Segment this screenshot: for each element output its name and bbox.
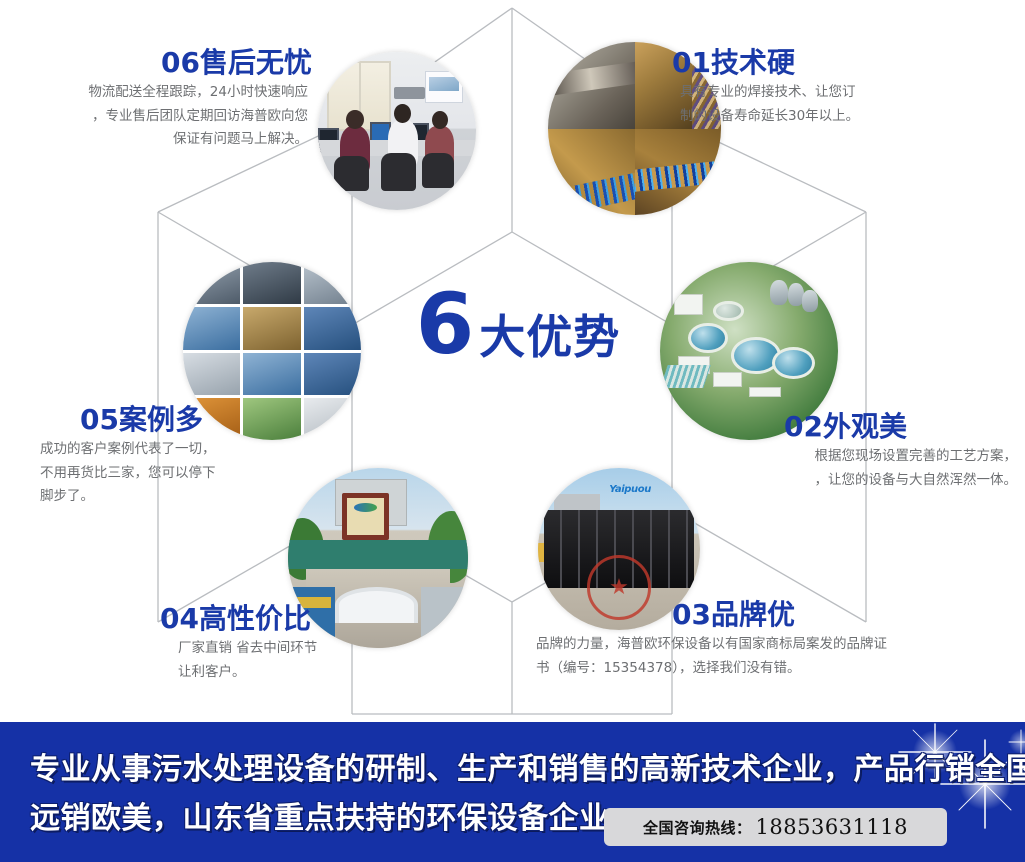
feature-06-line-2: ，专业售后团队定期回访海普欧向您: [0, 105, 308, 128]
feature-06-block: 06售后无忧 物流配送全程跟踪，24小时快速响应 ，专业售后团队定期回访海普欧向…: [0, 48, 318, 151]
feature-06-line-3: 保证有问题马上解决。: [0, 128, 308, 151]
feature-01-heading: 01技术硬: [672, 48, 1002, 77]
center-title: 6 大优势: [398, 282, 638, 377]
feature-02-line-1: 根据您现场设置完善的工艺方案，: [700, 445, 1017, 468]
center-label: 大优势: [479, 314, 620, 360]
feature-01-block: 01技术硬 具有专业的焊接技术、让您订 制的设备寿命延长30年以上。: [672, 48, 1002, 128]
feature-04-body: 厂家直销 省去中间环节 让利客户。: [130, 637, 430, 683]
feature-05-heading: 05案例多: [28, 405, 328, 434]
office-team-photo: [318, 52, 476, 210]
feature-03-line-2: 书（编号：15354378），选择我们没有错。: [536, 657, 1025, 680]
feature-02-line-2: ，让您的设备与大自然浑然一体。: [700, 469, 1017, 492]
feature-06-body: 物流配送全程跟踪，24小时快速响应 ，专业售后团队定期回访海普欧向您 保证有问题…: [0, 81, 318, 151]
banner-line-1: 专业从事污水处理设备的研制、生产和销售的高新技术企业，产品行销全国并: [30, 746, 890, 795]
feature-02-block: 02外观美 根据您现场设置完善的工艺方案， ，让您的设备与大自然浑然一体。: [700, 412, 1025, 492]
feature-04-line-2: 让利客户。: [178, 661, 430, 684]
feature-01-line-1: 具有专业的焊接技术、让您订: [680, 81, 1002, 104]
advantages-infographic: 6 大优势: [0, 0, 1025, 862]
feature-03-body: 品牌的力量，海普欧环保设备以有国家商标局案发的品牌证 书（编号：15354378…: [530, 633, 1025, 679]
feature-05-line-1: 成功的客户案例代表了一切，: [40, 438, 328, 461]
feature-06-line-1: 物流配送全程跟踪，24小时快速响应: [0, 81, 308, 104]
center-number: 6: [416, 282, 472, 366]
feature-06-heading: 06售后无忧: [0, 48, 318, 77]
feature-05-line-3: 脚步了。: [40, 485, 328, 508]
feature-03-line-1: 品牌的力量，海普欧环保设备以有国家商标局案发的品牌证: [536, 633, 1025, 656]
feature-03-heading: 03品牌优: [530, 600, 1025, 629]
hotline-label: 全国咨询热线：: [643, 817, 752, 838]
brand-logo: Yaipuou: [609, 484, 651, 495]
feature-05-line-2: 不用再货比三家，您可以停下: [40, 462, 328, 485]
feature-04-line-1: 厂家直销 省去中间环节: [178, 637, 430, 660]
hotline-number: 18853631118: [756, 815, 908, 839]
feature-02-body: 根据您现场设置完善的工艺方案， ，让您的设备与大自然浑然一体。: [700, 445, 1025, 491]
feature-04-heading: 04高性价比: [130, 604, 430, 633]
feature-01-line-2: 制的设备寿命延长30年以上。: [680, 105, 1002, 128]
feature-01-body: 具有专业的焊接技术、让您订 制的设备寿命延长30年以上。: [672, 81, 1002, 127]
hotline-box[interactable]: 全国咨询热线： 18853631118: [604, 808, 947, 846]
feature-02-heading: 02外观美: [700, 412, 1025, 441]
feature-05-block: 05案例多 成功的客户案例代表了一切， 不用再货比三家，您可以停下 脚步了。: [28, 405, 328, 508]
feature-04-block: 04高性价比 厂家直销 省去中间环节 让利客户。: [130, 604, 430, 684]
feature-03-block: 03品牌优 品牌的力量，海普欧环保设备以有国家商标局案发的品牌证 书（编号：15…: [530, 600, 1025, 680]
feature-05-body: 成功的客户案例代表了一切， 不用再货比三家，您可以停下 脚步了。: [28, 438, 328, 508]
